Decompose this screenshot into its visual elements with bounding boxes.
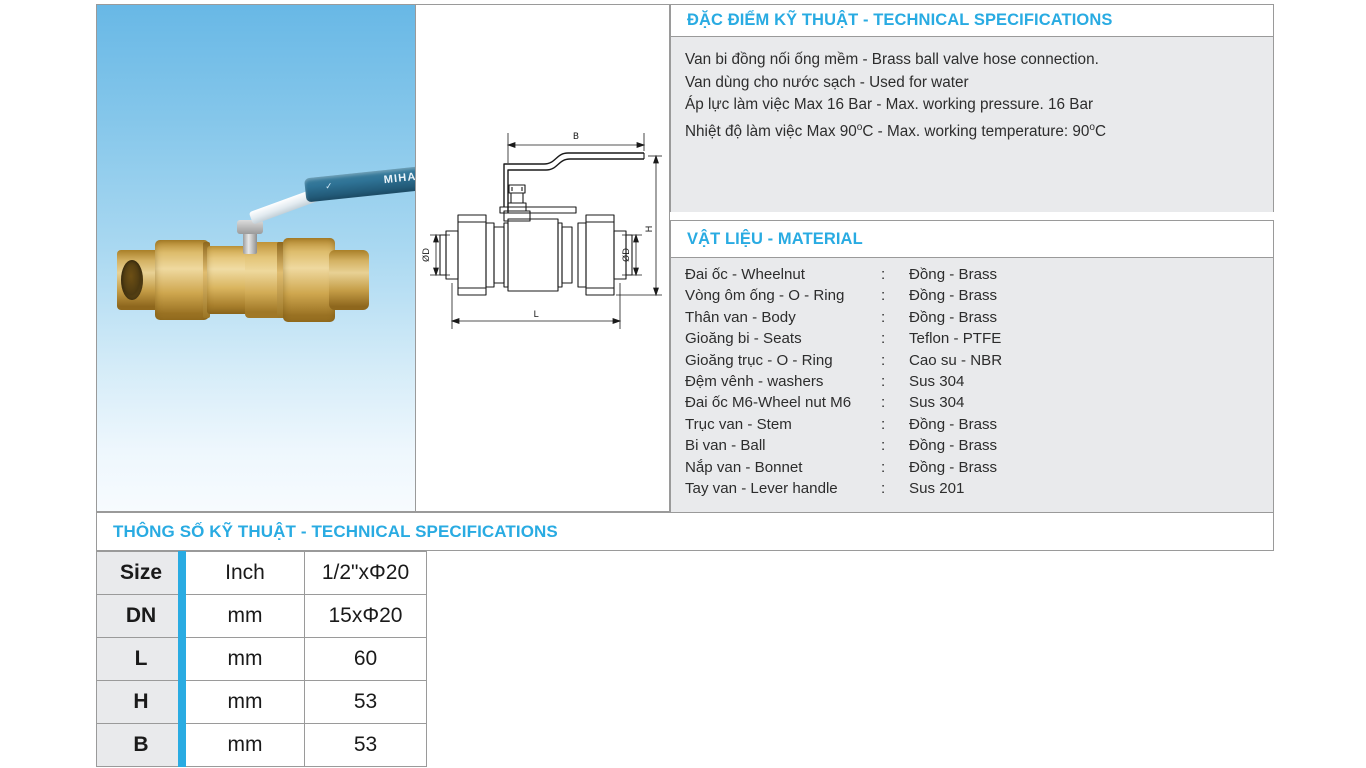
valve-left-wheelnut: [155, 240, 209, 320]
table-title-bar: THÔNG SỐ KỸ THUẬT - TECHNICAL SPECIFICAT…: [96, 512, 1274, 551]
valve-right-hose-end: [329, 250, 369, 310]
handle-brand-label: MIHA: [383, 171, 416, 186]
svg-text:B: B: [573, 132, 579, 142]
material-colon: :: [881, 307, 909, 328]
table-cell-key: H: [97, 681, 186, 724]
material-value: Đồng - Brass: [909, 264, 997, 285]
valve-left-bore: [121, 260, 143, 300]
material-colon: :: [881, 264, 909, 285]
table-cell-unit: Inch: [186, 552, 305, 595]
material-value: Sus 304: [909, 371, 964, 392]
material-colon: :: [881, 285, 909, 306]
material-row: Vòng ôm ống - O - Ring:Đồng - Brass: [685, 285, 1273, 306]
material-row: Gioăng trục - O - Ring:Cao su - NBR: [685, 350, 1273, 371]
table-cell-value: 53: [305, 681, 427, 724]
valve-dimension-drawing: B H L ØD: [416, 123, 671, 353]
material-part: Trục van - Stem: [685, 414, 881, 435]
table-cell-key: L: [97, 638, 186, 681]
material-value: Teflon - PTFE: [909, 328, 1001, 349]
material-body: Đai ốc - Wheelnut:Đồng - Brass Vòng ôm ố…: [671, 258, 1273, 512]
material-title: VẬT LIỆU - MATERIAL: [671, 230, 863, 249]
table-title: THÔNG SỐ KỸ THUẬT - TECHNICAL SPECIFICAT…: [97, 522, 558, 542]
material-part: Vòng ôm ống - O - Ring: [685, 285, 881, 306]
material-part: Đai ốc - Wheelnut: [685, 264, 881, 285]
material-colon: :: [881, 435, 909, 456]
spec-line: Van bi đồng nối ống mềm - Brass ball val…: [685, 49, 1273, 72]
material-part: Thân van - Body: [685, 307, 881, 328]
material-colon: :: [881, 478, 909, 499]
material-row: Bi van - Ball:Đồng - Brass: [685, 435, 1273, 456]
material-part: Gioăng bi - Seats: [685, 328, 881, 349]
material-value: Sus 304: [909, 392, 964, 413]
material-part: Tay van - Lever handle: [685, 478, 881, 499]
diameter-label-right: ØD: [621, 248, 632, 262]
material-row: Đai ốc M6-Wheel nut M6:Sus 304: [685, 392, 1273, 413]
table-cell-value: 60: [305, 638, 427, 681]
material-colon: :: [881, 328, 909, 349]
material-row: Đệm vênh - washers:Sus 304: [685, 371, 1273, 392]
spec-line-temperature: Nhiệt độ làm việc Max 90oC - Max. workin…: [685, 117, 1273, 144]
handle-mark: ✓: [324, 181, 333, 193]
specification-table: Size Inch 1/2"xΦ20 DN mm 15xΦ20 L mm 60 …: [96, 551, 427, 767]
material-row: Gioăng bi - Seats:Teflon - PTFE: [685, 328, 1273, 349]
table-cell-key: DN: [97, 595, 186, 638]
table-row: H mm 53: [97, 681, 427, 724]
brass-ball-valve-image: ✓ MIHA: [115, 220, 405, 340]
material-value: Sus 201: [909, 478, 964, 499]
spec-line: Áp lực làm việc Max 16 Bar - Max. workin…: [685, 94, 1273, 117]
material-part: Nắp van - Bonnet: [685, 457, 881, 478]
table-cell-key: Size: [97, 552, 186, 595]
material-row: Nắp van - Bonnet:Đồng - Brass: [685, 457, 1273, 478]
technical-drawing-panel: B H L ØD: [415, 4, 670, 512]
table-cell-value: 1/2"xΦ20: [305, 552, 427, 595]
table-cell-unit: mm: [186, 724, 305, 767]
table-cell-unit: mm: [186, 681, 305, 724]
spec-body: Van bi đồng nối ống mềm - Brass ball val…: [671, 37, 1273, 212]
material-row: Trục van - Stem:Đồng - Brass: [685, 414, 1273, 435]
material-row: Đai ốc - Wheelnut:Đồng - Brass: [685, 264, 1273, 285]
diameter-label-left: ØD: [421, 248, 432, 262]
material-value: Cao su - NBR: [909, 350, 1002, 371]
table-cell-unit: mm: [186, 638, 305, 681]
material-row: Thân van - Body:Đồng - Brass: [685, 307, 1273, 328]
svg-text:L: L: [533, 310, 538, 320]
material-value: Đồng - Brass: [909, 285, 997, 306]
material-colon: :: [881, 371, 909, 392]
spec-title-row: ĐẶC ĐIỂM KỸ THUẬT - TECHNICAL SPECIFICAT…: [671, 5, 1273, 37]
svg-text:H: H: [645, 226, 655, 233]
material-colon: :: [881, 392, 909, 413]
spec-title: ĐẶC ĐIỂM KỸ THUẬT - TECHNICAL SPECIFICAT…: [671, 11, 1112, 30]
table-row: DN mm 15xΦ20: [97, 595, 427, 638]
material-part: Đệm vênh - washers: [685, 371, 881, 392]
material-value: Đồng - Brass: [909, 435, 997, 456]
material-colon: :: [881, 350, 909, 371]
material-value: Đồng - Brass: [909, 307, 997, 328]
table-cell-value: 15xΦ20: [305, 595, 427, 638]
material-row: Tay van - Lever handle:Sus 201: [685, 478, 1273, 499]
valve-right-wheelnut: [283, 238, 335, 322]
table-row: Size Inch 1/2"xΦ20: [97, 552, 427, 595]
material-colon: :: [881, 414, 909, 435]
table-cell-key: B: [97, 724, 186, 767]
datasheet: ✓ MIHA: [0, 0, 1366, 768]
material-colon: :: [881, 457, 909, 478]
table-row: L mm 60: [97, 638, 427, 681]
table-cell-value: 53: [305, 724, 427, 767]
material-panel: VẬT LIỆU - MATERIAL Đai ốc - Wheelnut:Đồ…: [670, 220, 1274, 512]
technical-specifications-panel: ĐẶC ĐIỂM KỸ THUẬT - TECHNICAL SPECIFICAT…: [670, 4, 1274, 212]
spec-line: Van dùng cho nước sạch - Used for water: [685, 72, 1273, 95]
material-value: Đồng - Brass: [909, 457, 997, 478]
table-row: B mm 53: [97, 724, 427, 767]
material-part: Đai ốc M6-Wheel nut M6: [685, 392, 881, 413]
material-title-row: VẬT LIỆU - MATERIAL: [671, 221, 1273, 258]
table-cell-unit: mm: [186, 595, 305, 638]
material-value: Đồng - Brass: [909, 414, 997, 435]
product-photo-panel: ✓ MIHA: [96, 4, 416, 512]
material-part: Gioăng trục - O - Ring: [685, 350, 881, 371]
material-part: Bi van - Ball: [685, 435, 881, 456]
